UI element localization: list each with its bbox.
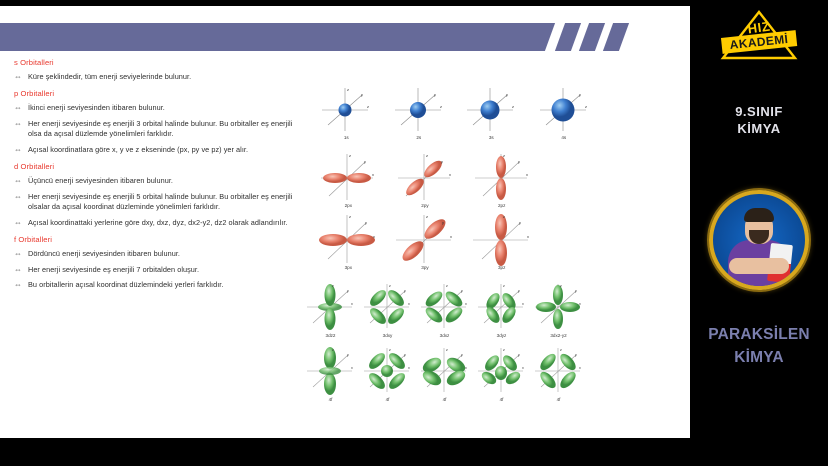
svg-text:x: x	[372, 172, 374, 177]
svg-text:x: x	[408, 366, 410, 370]
svg-text:x: x	[465, 366, 467, 370]
bullet-text: Bu orbitallerin açısal koordinat düzlemi…	[28, 280, 304, 290]
content-text-column: s Orbitalleri ⇔ Küre şeklindedir, tüm en…	[14, 58, 304, 297]
svg-text:y: y	[347, 353, 349, 357]
section-title: d Orbitalleri	[14, 162, 304, 171]
svg-text:z: z	[332, 284, 334, 288]
double-arrow-icon: ⇔	[14, 280, 28, 290]
orbital-row-2p: x y z 2px x y z	[310, 146, 540, 206]
svg-text:y: y	[506, 92, 508, 97]
orbital-cell-3dxz: x y z 3dxz	[416, 276, 473, 336]
orbital-row-3p: x y z 3px x y z	[310, 208, 540, 268]
avatar-hair	[744, 208, 774, 222]
bullet-item: ⇔ Her enerji seviyesinde eş enerjili 5 o…	[14, 192, 304, 212]
section-title: f Orbitalleri	[14, 235, 304, 244]
svg-text:z: z	[440, 104, 442, 109]
orbital-label: 3py	[421, 265, 428, 270]
bullet-text: Üçüncü enerji seviyesinden itibaren bulu…	[28, 176, 304, 186]
orbital-label: 3dx2-y2	[550, 333, 566, 338]
bullet-text: Dördüncü enerji seviyesinden itibaren bu…	[28, 249, 304, 259]
svg-text:z: z	[446, 284, 448, 288]
subject-label: KİMYA	[690, 121, 828, 136]
double-arrow-icon: ⇔	[14, 103, 28, 113]
svg-text:x: x	[408, 302, 410, 306]
header-tick-icon	[603, 23, 629, 51]
bullet-item: ⇔ Açısal koordinattaki yerlerine göre dx…	[14, 218, 304, 228]
svg-text:y: y	[361, 92, 363, 97]
svg-text:x: x	[522, 366, 524, 370]
orbital-cell-4f-4: x y z 4f	[473, 340, 530, 400]
svg-text:x: x	[351, 302, 353, 306]
svg-text:x: x	[579, 366, 581, 370]
orbital-label: 2s	[416, 135, 421, 140]
header-tick-icon	[579, 23, 605, 51]
orbital-cell-3dx2y2: x y z 3dx2-y2	[530, 276, 587, 336]
svg-text:z: z	[503, 214, 505, 219]
svg-text:z: z	[367, 104, 369, 109]
orbital-cell-4f-2: x y z 4f	[359, 340, 416, 400]
svg-text:z: z	[512, 104, 514, 109]
double-arrow-icon: ⇔	[14, 265, 28, 275]
branding-sidebar: HIZ AKADEMİ 9.SINIF KİMYA PARAKSİLEN KİM…	[690, 0, 828, 466]
orbital-label: 3px	[345, 265, 352, 270]
orbital-cell-4s: z y 4s	[528, 78, 601, 138]
svg-text:y: y	[575, 353, 577, 357]
orbital-label: 4f	[557, 397, 561, 402]
svg-text:z: z	[503, 153, 505, 158]
svg-text:y: y	[364, 159, 366, 164]
orbital-cell-1s: z y z 1s	[310, 78, 383, 138]
svg-text:y: y	[434, 92, 436, 97]
section-f-orbitals: f Orbitalleri ⇔ Dördüncü enerji seviyesi…	[14, 235, 304, 291]
bullet-text: Açısal koordinatlara göre x, y ve z ekse…	[28, 145, 304, 155]
double-arrow-icon: ⇔	[14, 176, 28, 186]
orbital-label: 3s	[489, 135, 494, 140]
orbital-cell-3dyz: x y z 3dyz	[473, 276, 530, 336]
orbital-label: 4f	[443, 397, 447, 402]
svg-text:z: z	[446, 348, 448, 352]
svg-text:z: z	[332, 348, 334, 352]
svg-text:z: z	[585, 104, 587, 109]
orbital-cell-3py: x y z 3py	[387, 208, 464, 268]
double-arrow-icon: ⇔	[14, 72, 28, 82]
orbital-label: 4f	[329, 397, 333, 402]
slide-canvas: s Orbitalleri ⇔ Küre şeklindedir, tüm en…	[0, 6, 690, 438]
bullet-text: Açısal koordinattaki yerlerine göre dxy,…	[28, 218, 304, 228]
double-arrow-icon: ⇔	[14, 119, 28, 129]
svg-text:y: y	[404, 289, 406, 293]
svg-text:y: y	[404, 353, 406, 357]
section-d-orbitals: d Orbitalleri ⇔ Üçüncü enerji seviyesind…	[14, 162, 304, 228]
orbital-row-s: z y z 1s z y 2s	[310, 78, 600, 138]
orbital-cell-4f-3: x y z 4f	[416, 340, 473, 400]
svg-text:y: y	[579, 92, 581, 97]
section-s-orbitals: s Orbitalleri ⇔ Küre şeklindedir, tüm en…	[14, 58, 304, 82]
svg-text:x: x	[527, 234, 529, 239]
svg-text:z: z	[389, 348, 391, 352]
bullet-text: Her enerji seviyesinde eş enerjili 7 orb…	[28, 265, 304, 275]
bullet-text: İkinci enerji seviyesinden itibaren bulu…	[28, 103, 304, 113]
svg-text:y: y	[519, 220, 521, 225]
svg-text:y: y	[575, 289, 577, 293]
svg-text:z: z	[503, 348, 505, 352]
class-level-label: 9.SINIF	[690, 104, 828, 119]
svg-text:z: z	[426, 214, 428, 219]
orbital-cell-3dxy: x y z 3dxy	[359, 276, 416, 336]
orbital-label: 3dyz	[497, 333, 507, 338]
orbital-cell-4f-5: x y z 4f	[530, 340, 587, 400]
svg-text:y: y	[518, 289, 520, 293]
orbital-label: 3dxz	[440, 333, 450, 338]
orbital-cell-3dz2: x y z 3dz2	[302, 276, 359, 336]
orbital-cell-2pz: x y z 2pz	[463, 146, 540, 206]
orbital-cell-3pz: x y z 3pz	[463, 208, 540, 268]
section-p-orbitals: p Orbitalleri ⇔ İkinci enerji seviyesind…	[14, 89, 304, 155]
section-title: s Orbitalleri	[14, 58, 304, 67]
brand-subject-label: KİMYA	[690, 349, 828, 367]
svg-text:x: x	[450, 234, 452, 239]
bullet-text: Her enerji seviyesinde eş enerjili 5 orb…	[28, 192, 304, 212]
bullet-text: Küre şeklindedir, tüm enerji seviyelerin…	[28, 72, 304, 82]
header-tick-icon	[555, 23, 581, 51]
svg-text:y: y	[518, 159, 520, 164]
svg-text:x: x	[449, 172, 451, 177]
orbital-cell-2s: z y 2s	[383, 78, 456, 138]
svg-text:y: y	[461, 353, 463, 357]
bullet-text: Her enerji seviyesinde eş enerjili 3 orb…	[28, 119, 304, 139]
svg-text:x: x	[522, 302, 524, 306]
svg-text:z: z	[349, 153, 351, 158]
svg-text:z: z	[560, 284, 562, 288]
svg-text:y: y	[442, 220, 444, 225]
header-accent-bar	[0, 23, 555, 51]
svg-text:y: y	[441, 159, 443, 164]
bullet-item: ⇔ Üçüncü enerji seviyesinden itibaren bu…	[14, 176, 304, 186]
section-title: p Orbitalleri	[14, 89, 304, 98]
orbital-label: 1s	[344, 135, 349, 140]
svg-text:x: x	[351, 366, 353, 370]
double-arrow-icon: ⇔	[14, 145, 28, 155]
orbital-cell-2py: x y z 2py	[387, 146, 464, 206]
svg-text:y: y	[461, 289, 463, 293]
svg-text:z: z	[560, 348, 562, 352]
brand-name-label: PARAKSİLEN	[690, 326, 828, 344]
svg-text:z: z	[349, 214, 351, 219]
orbital-row-3d: x y z 3dz2 x y	[302, 276, 587, 336]
svg-text:z: z	[426, 153, 428, 158]
bullet-item: ⇔ Her enerji seviyesinde eş enerjili 7 o…	[14, 265, 304, 275]
svg-text:z: z	[389, 284, 391, 288]
bullet-item: ⇔ Küre şeklindedir, tüm enerji seviyeler…	[14, 72, 304, 82]
orbital-label: 3dxy	[383, 333, 393, 338]
double-arrow-icon: ⇔	[14, 249, 28, 259]
svg-text:y: y	[365, 220, 367, 225]
academy-logo: HIZ AKADEMİ	[703, 8, 815, 66]
double-arrow-icon: ⇔	[14, 218, 28, 228]
double-arrow-icon: ⇔	[14, 192, 28, 202]
svg-text:y: y	[347, 289, 349, 293]
bullet-item: ⇔ İkinci enerji seviyesinden itibaren bu…	[14, 103, 304, 113]
orbital-label: 4f	[500, 397, 504, 402]
orbital-label: 4f	[386, 397, 390, 402]
svg-text:z: z	[347, 87, 349, 92]
orbital-cell-2px: x y z 2px	[310, 146, 387, 206]
orbital-cell-3s: z y 3s	[455, 78, 528, 138]
svg-text:y: y	[518, 353, 520, 357]
orbital-diagram-grid: z y z 1s z y 2s	[300, 78, 680, 418]
svg-text:x: x	[526, 172, 528, 177]
bullet-item: ⇔ Bu orbitallerin açısal koordinat düzle…	[14, 280, 304, 290]
bullet-item: ⇔ Açısal koordinatlara göre x, y ve z ek…	[14, 145, 304, 155]
svg-text:z: z	[503, 284, 505, 288]
svg-text:x: x	[579, 302, 581, 306]
bullet-item: ⇔ Her enerji seviyesinde eş enerjili 3 o…	[14, 119, 304, 139]
orbital-cell-3px: x y z 3px	[310, 208, 387, 268]
avatar-arms	[729, 258, 789, 274]
orbital-label: 3dz2	[326, 333, 336, 338]
orbital-cell-4f-1: x y z 4f	[302, 340, 359, 400]
orbital-label: 3pz	[498, 265, 505, 270]
orbital-row-4f: x y z 4f x	[302, 340, 587, 400]
svg-text:x: x	[465, 302, 467, 306]
orbital-label: 4s	[561, 135, 566, 140]
bullet-item: ⇔ Dördüncü enerji seviyesinden itibaren …	[14, 249, 304, 259]
svg-text:x: x	[373, 234, 375, 239]
instructor-avatar	[709, 190, 809, 290]
